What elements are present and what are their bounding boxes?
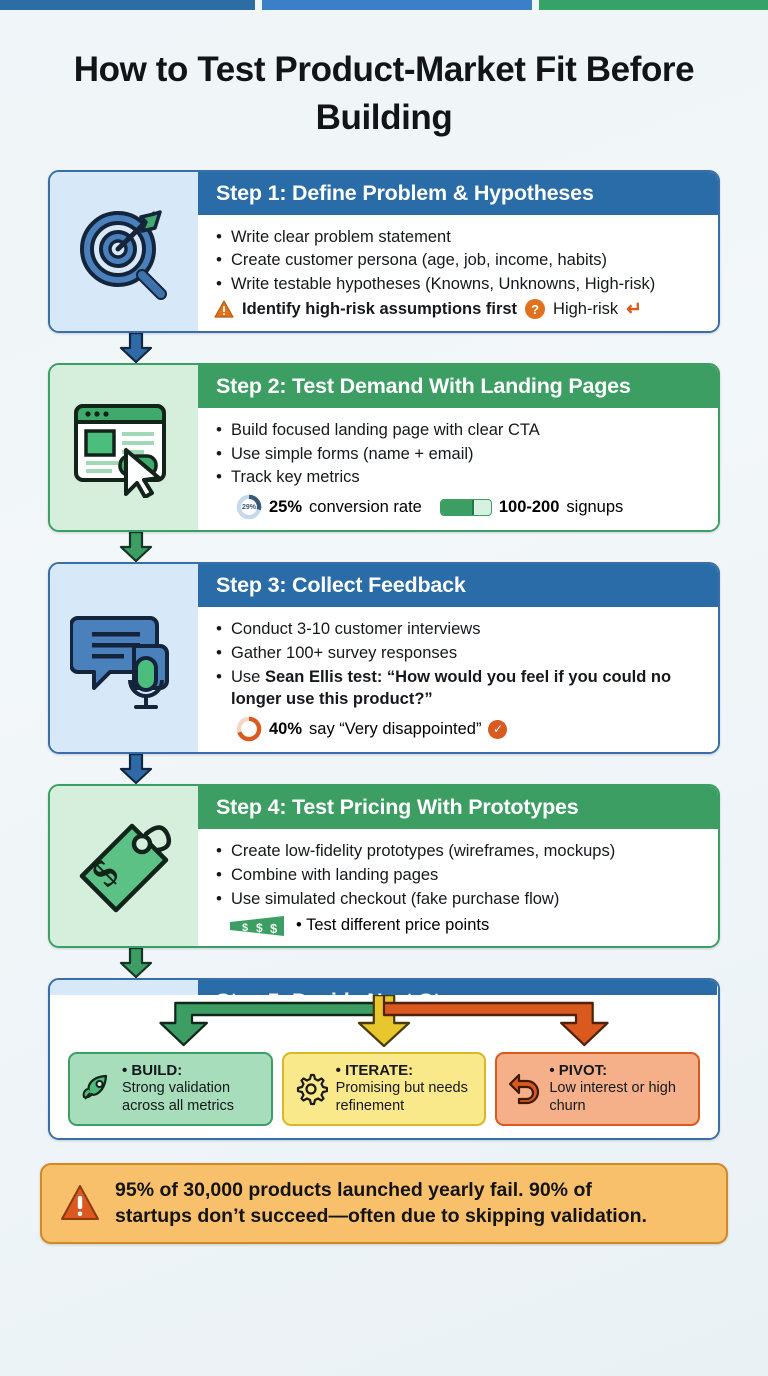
top-accent-bar-1 bbox=[0, 0, 255, 10]
step-1-badge-text: High-risk bbox=[553, 300, 618, 319]
wedge-symbols: $ bbox=[242, 922, 248, 934]
target-magnifier-icon bbox=[68, 195, 180, 307]
outcome-pivot-name: PIVOT: bbox=[549, 1062, 690, 1080]
price-points-text: Test different price points bbox=[306, 916, 489, 934]
browser-cursor-icon bbox=[70, 398, 178, 498]
metric-conversion-rate: 29% 25% conversion rate bbox=[236, 494, 422, 520]
step-1-icon-pane bbox=[50, 172, 198, 331]
list-item: Combine with landing pages bbox=[214, 864, 704, 887]
down-arrow-icon bbox=[118, 754, 154, 784]
metric-value: 100-200 bbox=[499, 498, 560, 517]
step-2-icon-pane bbox=[50, 365, 198, 530]
question-mark-icon: ? bbox=[525, 299, 545, 319]
curved-arrow-icon: ↵ bbox=[626, 298, 642, 321]
step-2-bullets: Build focused landing page with clear CT… bbox=[214, 419, 704, 489]
connector-4-5 bbox=[0, 948, 768, 978]
rich-bold: Sean Ellis test: bbox=[265, 668, 382, 686]
svg-text:$: $ bbox=[270, 921, 278, 936]
step-3-header: Step 3: Collect Feedback bbox=[198, 564, 718, 607]
outcome-iterate-desc: Promising but needs refinement bbox=[336, 1080, 477, 1115]
step-1-bullets: Write clear problem statement Create cus… bbox=[214, 226, 704, 296]
outcome-boxes: BUILD: Strong validation across all metr… bbox=[64, 1052, 704, 1126]
down-arrow-icon bbox=[118, 532, 154, 562]
outcome-iterate-name: ITERATE: bbox=[336, 1062, 477, 1080]
list-item: Gather 100+ survey responses bbox=[214, 642, 704, 665]
warning-line-2: startups don’t succeed—often due to skip… bbox=[115, 1203, 647, 1229]
step-4-icon-pane: $ bbox=[50, 786, 198, 945]
list-item: Write testable hypotheses (Knowns, Unkno… bbox=[214, 273, 704, 296]
step-4-price-row: $ $ $ • Test different price points bbox=[214, 916, 704, 936]
step-1-callout: Identify high-risk assumptions first ? H… bbox=[214, 298, 704, 321]
list-item: Create low-fidelity prototypes (wirefram… bbox=[214, 840, 704, 863]
list-item: Use simulated checkout (fake purchase fl… bbox=[214, 888, 704, 911]
list-item-rich: Use Sean Ellis test: “How would you feel… bbox=[214, 666, 704, 712]
metric-signups: 100-200 signups bbox=[440, 498, 623, 517]
down-arrow-icon bbox=[118, 948, 154, 978]
step-card-2: Step 2: Test Demand With Landing Pages B… bbox=[48, 363, 720, 532]
decision-branch: BUILD: Strong validation across all metr… bbox=[50, 995, 718, 1138]
step-3-bullets: Conduct 3-10 customer interviews Gather … bbox=[214, 618, 704, 711]
step-3-content: Conduct 3-10 customer interviews Gather … bbox=[198, 607, 718, 752]
list-item: Build focused landing page with clear CT… bbox=[214, 419, 704, 442]
speech-bubble-microphone-icon bbox=[70, 606, 178, 710]
warning-banner-text: 95% of 30,000 products launched yearly f… bbox=[115, 1177, 647, 1229]
outcome-build-name: BUILD: bbox=[122, 1062, 263, 1080]
top-accent-bar-2 bbox=[262, 0, 532, 10]
step-card-4: $ Step 4: Test Pricing With Prototypes C… bbox=[48, 784, 720, 947]
metric-label: conversion rate bbox=[309, 498, 422, 517]
metric-value: 40% bbox=[269, 720, 302, 739]
step-card-1: Step 1: Define Problem & Hypotheses Writ… bbox=[48, 170, 720, 333]
outcome-build-text: BUILD: Strong validation across all metr… bbox=[122, 1062, 263, 1116]
money-wedge-icon: $ $ $ bbox=[228, 916, 286, 936]
step-1-header: Step 1: Define Problem & Hypotheses bbox=[198, 172, 718, 215]
step-1-content: Write clear problem statement Create cus… bbox=[198, 215, 718, 331]
svg-text:$: $ bbox=[256, 921, 263, 935]
step-3-metrics: 40% say “Very disappointed” ✓ bbox=[214, 716, 704, 742]
donut-label: 29% bbox=[236, 494, 262, 520]
metric-label: say “Very disappointed” bbox=[309, 720, 481, 739]
price-points-label: • Test different price points bbox=[296, 916, 489, 935]
outcome-build[interactable]: BUILD: Strong validation across all metr… bbox=[68, 1052, 273, 1126]
outcome-pivot[interactable]: PIVOT: Low interest or high churn bbox=[495, 1052, 700, 1126]
metric-label: signups bbox=[566, 498, 623, 517]
branch-arrows bbox=[64, 995, 704, 1047]
step-3-icon-pane bbox=[50, 564, 198, 752]
connector-2-3 bbox=[0, 532, 768, 562]
rocket-icon bbox=[80, 1072, 114, 1106]
warning-triangle-icon bbox=[60, 1184, 100, 1222]
step-4-body: Step 4: Test Pricing With Prototypes Cre… bbox=[198, 786, 718, 945]
step-2-header: Step 2: Test Demand With Landing Pages bbox=[198, 365, 718, 408]
metric-disappointed: 40% say “Very disappointed” ✓ bbox=[236, 716, 507, 742]
list-item: Write clear problem statement bbox=[214, 226, 704, 249]
list-item: Create customer persona (age, job, incom… bbox=[214, 249, 704, 272]
step-1-body: Step 1: Define Problem & Hypotheses Writ… bbox=[198, 172, 718, 331]
step-4-header: Step 4: Test Pricing With Prototypes bbox=[198, 786, 718, 829]
step-2-metrics: 29% 25% conversion rate 100-200 signups bbox=[214, 494, 704, 520]
outcome-build-desc: Strong validation across all metrics bbox=[122, 1080, 263, 1115]
check-circle-icon: ✓ bbox=[488, 720, 507, 739]
list-item: Conduct 3-10 customer interviews bbox=[214, 618, 704, 641]
step-1-warning-text: Identify high-risk assumptions first bbox=[242, 300, 517, 319]
outcome-pivot-desc: Low interest or high churn bbox=[549, 1080, 690, 1115]
warning-banner: 95% of 30,000 products launched yearly f… bbox=[40, 1163, 728, 1244]
metric-value: 25% bbox=[269, 498, 302, 517]
top-accent-bar-3 bbox=[539, 0, 768, 10]
top-accent-bars bbox=[0, 0, 768, 10]
rich-prefix: Use bbox=[231, 668, 265, 686]
step-4-bullets: Create low-fidelity prototypes (wirefram… bbox=[214, 840, 704, 910]
undo-arrow-icon bbox=[507, 1072, 541, 1106]
outcome-pivot-text: PIVOT: Low interest or high churn bbox=[549, 1062, 690, 1116]
steps-container: Step 1: Define Problem & Hypotheses Writ… bbox=[0, 170, 768, 1140]
progress-bar-icon bbox=[440, 499, 492, 516]
price-tag-icon: $ bbox=[70, 816, 178, 916]
connector-3-4 bbox=[0, 754, 768, 784]
down-arrow-icon bbox=[118, 333, 154, 363]
step-4-content: Create low-fidelity prototypes (wirefram… bbox=[198, 829, 718, 945]
list-item: Use simple forms (name + email) bbox=[214, 443, 704, 466]
connector-1-2 bbox=[0, 333, 768, 363]
donut-chart-icon: 29% bbox=[236, 494, 262, 520]
warning-triangle-icon bbox=[214, 300, 234, 318]
gear-icon bbox=[294, 1072, 328, 1106]
outcome-iterate[interactable]: ITERATE: Promising but needs refinement bbox=[282, 1052, 487, 1126]
step-card-3: Step 3: Collect Feedback Conduct 3-10 cu… bbox=[48, 562, 720, 754]
step-2-body: Step 2: Test Demand With Landing Pages B… bbox=[198, 365, 718, 530]
page-title: How to Test Product-Market Fit Before Bu… bbox=[48, 46, 720, 143]
donut-label bbox=[236, 716, 262, 742]
warning-line-1: 95% of 30,000 products launched yearly f… bbox=[115, 1177, 647, 1203]
outcome-iterate-text: ITERATE: Promising but needs refinement bbox=[336, 1062, 477, 1116]
step-3-body: Step 3: Collect Feedback Conduct 3-10 cu… bbox=[198, 564, 718, 752]
list-item: Track key metrics bbox=[214, 466, 704, 489]
donut-chart-icon bbox=[236, 716, 262, 742]
step-2-content: Build focused landing page with clear CT… bbox=[198, 408, 718, 530]
step-card-5: Step 5: Decide Next Steps Analyze metric… bbox=[48, 978, 720, 1140]
